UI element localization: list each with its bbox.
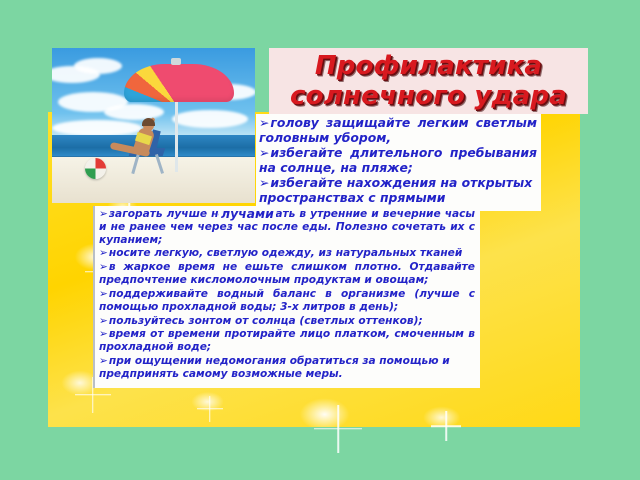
umbrella-tip	[171, 58, 181, 65]
arrow-bullet-icon: ➢	[99, 261, 108, 273]
list-item-text: поддерживайте водный баланс в организме …	[99, 288, 475, 313]
sunbathing-woman	[108, 120, 170, 176]
beach-ball-icon	[85, 158, 106, 179]
list-item: ➢время от времени протирайте лицо платко…	[99, 328, 475, 354]
list-item: ➢носите легкую, светлую одежду, из натур…	[99, 247, 475, 260]
beach-umbrella-icon	[124, 64, 234, 102]
list-item: ➢пользуйтесь зонтом от солнца (светлых о…	[99, 315, 475, 328]
arrow-bullet-icon: ➢	[99, 208, 108, 220]
arrow-bullet-icon: ➢	[259, 145, 269, 160]
tips-list-secondary: ➢загорать лучше не принимать в утренние …	[99, 208, 475, 381]
list-item-text: голову защищайте легким светлым головным…	[259, 115, 537, 145]
list-item-text: пользуйтесь зонтом от солнца (светлых от…	[109, 315, 423, 327]
sparkle-star-icon	[431, 411, 461, 441]
list-item-text: при ощущении недомогания обратиться за п…	[99, 355, 450, 380]
overlapping-word: лучами	[219, 207, 276, 222]
beach-photo	[52, 48, 255, 203]
list-item-text: носите легкую, светлую одежду, из натура…	[109, 247, 462, 259]
slide-canvas: Профилактика солнечного удара ➢голову за…	[0, 0, 640, 480]
sparkle-star-icon	[197, 396, 223, 422]
tips-list-primary: ➢голову защищайте легким светлым головны…	[259, 116, 537, 211]
cloud-shape	[104, 104, 164, 120]
tips-panel-primary: ➢голову защищайте легким светлым головны…	[256, 114, 541, 211]
woman-hair	[142, 118, 155, 126]
tips-panel-secondary: ➢загорать лучше не принимать в утренние …	[93, 206, 480, 388]
arrow-bullet-icon: ➢	[99, 355, 108, 367]
list-item-text: время от времени протирайте лицо платком…	[99, 328, 475, 353]
title-banner: Профилактика солнечного удара	[269, 48, 588, 114]
list-item: ➢загорать лучше не принимать в утренние …	[99, 208, 475, 246]
arrow-bullet-icon: ➢	[99, 288, 108, 300]
arrow-bullet-icon: ➢	[259, 175, 269, 190]
sparkle-star-icon	[314, 405, 362, 453]
arrow-bullet-icon: ➢	[99, 247, 108, 259]
list-item: ➢избегайте длительного пребывания на сол…	[259, 146, 537, 175]
arrow-bullet-icon: ➢	[99, 315, 108, 327]
page-title: Профилактика солнечного удара	[269, 48, 588, 112]
list-item: ➢в жаркое время не ешьте слишком плотно.…	[99, 261, 475, 287]
list-item: ➢поддерживайте водный баланс в организме…	[99, 288, 475, 314]
list-item-text: в жаркое время не ешьте слишком плотно. …	[99, 261, 475, 286]
list-item-text: загорать лучше не принимать в утренние и…	[99, 208, 475, 246]
list-item: ➢при ощущении недомогания обратиться за …	[99, 355, 475, 381]
list-item: ➢голову защищайте легким светлым головны…	[259, 116, 537, 145]
cloud-shape	[74, 58, 122, 74]
arrow-bullet-icon: ➢	[99, 328, 108, 340]
arrow-bullet-icon: ➢	[259, 115, 269, 130]
list-item-text: избегайте длительного пребывания на солн…	[259, 145, 537, 175]
cloud-shape	[172, 110, 248, 128]
